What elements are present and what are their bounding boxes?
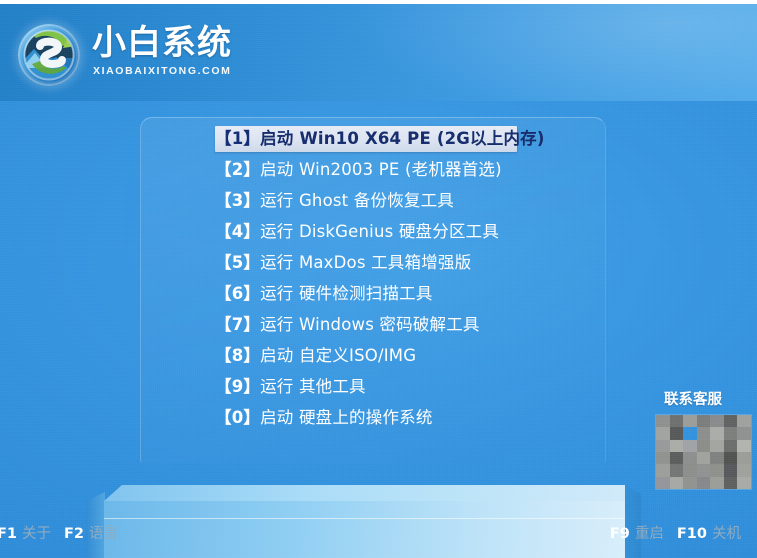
boot-menu-item-label: 运行 DiskGenius 硬盘分区工具 (260, 219, 499, 245)
qr-pixel-block (724, 440, 738, 452)
brand-name-cn: 小白系统 (92, 23, 232, 63)
boot-menu-item[interactable]: 【2】启动 Win2003 PE (老机器首选) (141, 157, 607, 183)
boot-menu-item[interactable]: 【9】运行 其他工具 (141, 374, 607, 400)
boot-menu-item[interactable]: 【5】运行 MaxDos 工具箱增强版 (141, 250, 607, 276)
boot-menu-item-label: 启动 硬盘上的操作系统 (260, 405, 432, 431)
qr-pixel-block (724, 415, 738, 427)
brand-logo: 小白系统 XIAOBAIXITONG.COM (18, 22, 250, 88)
qr-pixel-block (737, 452, 751, 464)
hotkey-label[interactable]: 重启 (635, 526, 664, 542)
hotkey-label[interactable]: 语言 (89, 526, 118, 542)
boot-menu-item[interactable]: 【0】启动 硬盘上的操作系统 (141, 405, 607, 431)
footer-hotkeys: F1关于F2语言 F9重启F10关机 (0, 514, 757, 558)
boot-menu-item-key: 【1】 (215, 126, 260, 152)
qr-pixel-block (724, 464, 738, 476)
boot-menu-item-key: 【4】 (215, 219, 260, 245)
hotkeys-right: F9重启F10关机 (610, 524, 741, 544)
brand-text: 小白系统 XIAOBAIXITONG.COM (92, 24, 242, 86)
qr-pixel-block (737, 464, 751, 476)
contact-support-block: 联系客服 (633, 390, 751, 489)
menu-panel: 【1】启动 Win10 X64 PE (2G以上内存)【2】启动 Win2003… (140, 117, 606, 463)
qr-pixel-block (697, 452, 711, 464)
qr-pixel-block (683, 452, 697, 464)
boot-menu-item-key: 【2】 (215, 157, 260, 183)
contact-support-label: 联系客服 (637, 390, 749, 410)
qr-pixel-block (697, 440, 711, 452)
qr-pixel-block (710, 440, 724, 452)
hotkey-fkey[interactable]: F9 (610, 526, 630, 542)
qr-pixel-block (670, 464, 684, 476)
boot-menu-item[interactable]: 【3】运行 Ghost 备份恢复工具 (141, 188, 607, 214)
qr-pixel-block (737, 427, 751, 439)
boot-menu-item[interactable]: 【8】启动 自定义ISO/IMG (141, 343, 607, 369)
qr-pixel-block (724, 427, 738, 439)
qr-pixel-block (710, 452, 724, 464)
qr-pixel-block (683, 464, 697, 476)
pedestal-top (104, 485, 625, 501)
boot-menu-item[interactable]: 【7】运行 Windows 密码破解工具 (141, 312, 607, 338)
qr-pixel-block (656, 415, 670, 427)
hotkey-label[interactable]: 关于 (22, 526, 51, 542)
boot-menu-item-key: 【6】 (215, 281, 260, 307)
qr-pixel-block (670, 440, 684, 452)
hotkey-fkey[interactable]: F10 (677, 526, 707, 542)
boot-menu-item-label: 启动 Win10 X64 PE (2G以上内存) (260, 126, 545, 152)
qr-pixel-block (710, 464, 724, 476)
boot-menu-item[interactable]: 【1】启动 Win10 X64 PE (2G以上内存) (215, 126, 517, 152)
boot-menu-item-key: 【9】 (215, 374, 260, 400)
qr-pixel-block (697, 415, 711, 427)
qr-pixel-block (656, 464, 670, 476)
qr-pixel-block (697, 464, 711, 476)
boot-menu-item-label: 运行 Windows 密码破解工具 (260, 312, 480, 338)
qr-pixel-block (683, 427, 697, 439)
qr-pixel-block (710, 415, 724, 427)
hotkeys-left: F1关于F2语言 (0, 524, 118, 544)
boot-menu-item-key: 【3】 (215, 188, 260, 214)
qr-pixel-block (656, 427, 670, 439)
boot-menu-item[interactable]: 【6】运行 硬件检测扫描工具 (141, 281, 607, 307)
boot-menu-item-label: 启动 Win2003 PE (老机器首选) (260, 157, 502, 183)
boot-menu-item-label: 运行 硬件检测扫描工具 (260, 281, 432, 307)
boot-menu-screen: 小白系统 XIAOBAIXITONG.COM 【1】启动 Win10 X64 P… (0, 0, 757, 558)
boot-menu-item-key: 【8】 (215, 343, 260, 369)
qr-pixel-block (683, 415, 697, 427)
hotkey-fkey[interactable]: F1 (0, 526, 17, 542)
qr-pixel-block (724, 452, 738, 464)
boot-menu-list: 【1】启动 Win10 X64 PE (2G以上内存)【2】启动 Win2003… (141, 126, 607, 436)
header-banner: 小白系统 XIAOBAIXITONG.COM (0, 4, 757, 101)
qr-pixel-block (737, 440, 751, 452)
qr-pixel-block (683, 440, 697, 452)
boot-menu-item-label: 运行 其他工具 (260, 374, 366, 400)
boot-menu-item-key: 【0】 (215, 405, 260, 431)
qr-pixel-block (697, 427, 711, 439)
boot-menu-item-key: 【5】 (215, 250, 260, 276)
globe-refresh-icon (18, 24, 80, 86)
qr-pixel-block (670, 427, 684, 439)
hotkey-label[interactable]: 关机 (712, 526, 741, 542)
boot-menu-item-label: 运行 Ghost 备份恢复工具 (260, 188, 454, 214)
brand-name-en: XIAOBAIXITONG.COM (93, 65, 231, 77)
hotkey-fkey[interactable]: F2 (64, 526, 84, 542)
qr-pixel-block (670, 452, 684, 464)
qr-pixel-block (710, 427, 724, 439)
boot-menu-item[interactable]: 【4】运行 DiskGenius 硬盘分区工具 (141, 219, 607, 245)
qr-pixel-block (670, 415, 684, 427)
qr-pixel-block (656, 440, 670, 452)
qr-pixel-block (656, 452, 670, 464)
boot-menu-item-label: 启动 自定义ISO/IMG (260, 343, 416, 369)
qr-pixel-block (737, 415, 751, 427)
boot-menu-item-key: 【7】 (215, 312, 260, 338)
boot-menu-item-label: 运行 MaxDos 工具箱增强版 (260, 250, 471, 276)
